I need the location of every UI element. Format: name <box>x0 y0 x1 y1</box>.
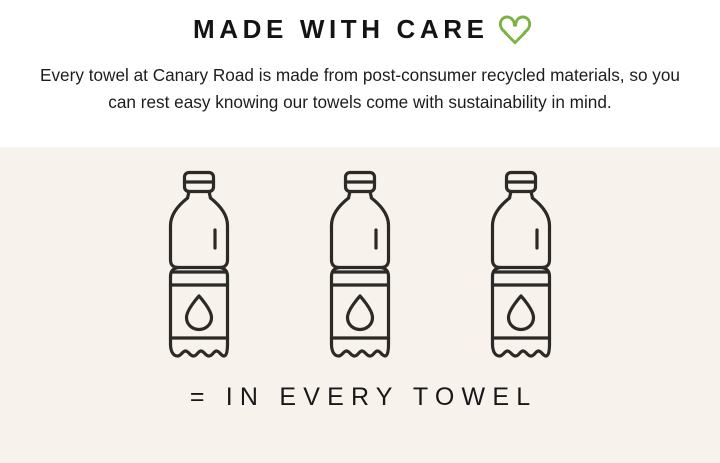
intro-paragraph: Every towel at Canary Road is made from … <box>4 62 716 115</box>
caption-row: = IN EVERY TOWEL <box>0 385 720 410</box>
plastic-bottle-icon <box>479 168 563 368</box>
headline-row: MADE WITH CARE <box>188 11 531 47</box>
page-title: MADE WITH CARE <box>188 16 488 42</box>
intro-section: MADE WITH CARE Every towel at Canary <box>0 0 720 147</box>
recycling-heart-icon <box>498 12 532 46</box>
plastic-bottle-icon <box>318 168 402 368</box>
bottle-row <box>157 168 563 368</box>
plastic-bottle-icon <box>157 168 241 368</box>
bottle-illustration-section: = IN EVERY TOWEL <box>0 147 720 463</box>
made-with-care-banner: MADE WITH CARE Every towel at Canary <box>0 0 720 463</box>
illustration-caption: = IN EVERY TOWEL <box>183 385 538 410</box>
